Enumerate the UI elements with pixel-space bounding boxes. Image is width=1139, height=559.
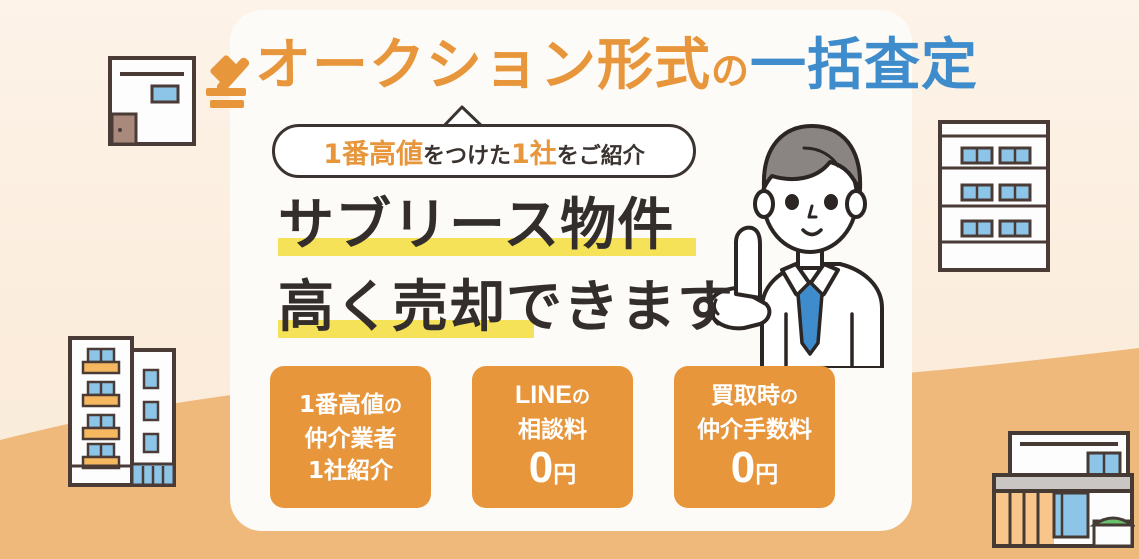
feature-box-purchase-brokerage-fee[interactable]: 買取時の 仲介手数料 0円 bbox=[674, 366, 835, 508]
three-story-apartment-building bbox=[938, 120, 1050, 272]
apartment-building-orange-balconies bbox=[68, 332, 178, 487]
feature-box-3-amount: 0円 bbox=[731, 446, 778, 497]
main-copy-line-2-strong: 高く売却 bbox=[278, 275, 506, 340]
feature-box-2-line-1: LINEの bbox=[515, 379, 590, 414]
headline-particle: の bbox=[711, 49, 750, 93]
page-title: オークション形式の一括査定 bbox=[255, 38, 978, 94]
speech-bubble-text: 1番高値をつけた1社をご紹介 bbox=[323, 132, 645, 171]
feature-box-1-line-1: 1番高値の bbox=[299, 389, 402, 423]
feature-box-1-line-2: 仲介業者 bbox=[305, 423, 397, 455]
feature-box-3-line-1: 買取時の bbox=[711, 380, 798, 414]
main-copy-line-2-tail: できます bbox=[506, 275, 734, 340]
main-copy-line-1: サブリース物件 bbox=[278, 190, 734, 262]
main-copy: サブリース物件 高く売却できます bbox=[278, 190, 734, 344]
bubble-middle: をつけた bbox=[423, 144, 511, 169]
speech-bubble: 1番高値をつけた1社をご紹介 bbox=[272, 124, 696, 178]
main-copy-line-2: 高く売却できます bbox=[278, 272, 734, 344]
main-copy-line-1-text: サブリース物件 bbox=[278, 193, 674, 258]
headline-part1: オークション形式 bbox=[255, 33, 711, 98]
storefront-building-green-awning bbox=[990, 425, 1135, 550]
feature-box-2-line-2: 相談料 bbox=[518, 414, 587, 446]
bubble-highlight-1: 1番高値 bbox=[323, 139, 423, 170]
banner-root: オークション形式の一括査定 1番高値をつけた1社をご紹介 サブリース物件 高く売… bbox=[0, 0, 1139, 559]
feature-box-line-consult-fee[interactable]: LINEの 相談料 0円 bbox=[472, 366, 633, 508]
feature-box-2-amount: 0円 bbox=[529, 446, 576, 497]
feature-box-top-price-agent[interactable]: 1番高値の 仲介業者 1社紹介 bbox=[270, 366, 431, 508]
bubble-suffix: をご紹介 bbox=[557, 144, 645, 169]
feature-box-1-line-3: 1社紹介 bbox=[308, 455, 393, 487]
headline-part2: 一括査定 bbox=[750, 33, 978, 98]
bubble-highlight-2: 1社 bbox=[511, 139, 557, 170]
feature-box-list: 1番高値の 仲介業者 1社紹介 LINEの 相談料 0円 買取時の 仲介手数料 … bbox=[270, 366, 835, 508]
feature-box-3-line-2: 仲介手数料 bbox=[697, 414, 812, 446]
small-shop-building bbox=[108, 56, 196, 146]
